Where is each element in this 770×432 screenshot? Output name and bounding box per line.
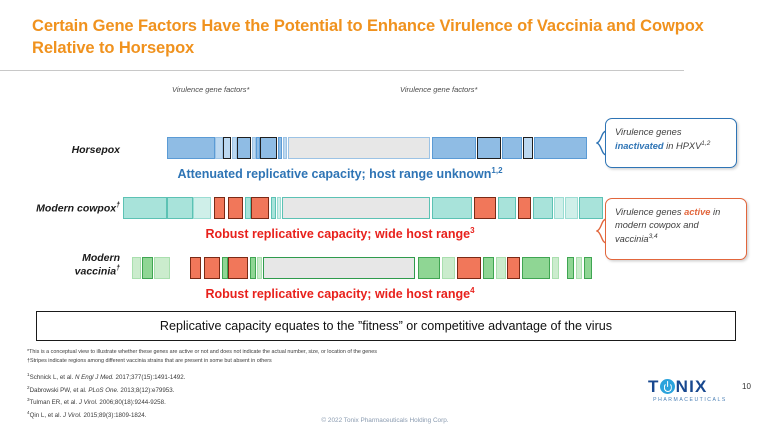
statement-text: Replicative capacity equates to the ”fit…	[160, 319, 612, 333]
reference-authors: Dabrowski PW, et al.	[30, 387, 89, 394]
cowpox-gene-segment	[474, 197, 496, 219]
reference-item: 3Tulman ER, et al. J Virol. 2006;80(18):…	[27, 396, 497, 409]
horsepox-gene-segment	[215, 137, 223, 159]
horsepox-gene-segment	[167, 137, 215, 159]
cowpox-gene-segment	[271, 197, 276, 219]
horsepox-gene-segment	[288, 137, 430, 159]
reference-authors: Schnick L, et al.	[30, 374, 75, 381]
horsepox-gene-segment	[278, 137, 282, 159]
cowpox-gene-segment	[193, 197, 211, 219]
callout-virulence-inactivated: Virulence genes inactivated in HPXV1,2	[605, 118, 737, 168]
vaccinia-gene-segment	[142, 257, 153, 279]
vaccinia-gene-segment	[483, 257, 494, 279]
tonix-wordmark: TNIX	[648, 378, 734, 395]
cowpox-gene-segment	[167, 197, 193, 219]
cowpox-gene-segment	[282, 197, 430, 219]
tonix-wordmark-post: NIX	[676, 378, 708, 395]
tonix-tagline: PHARMACEUTICALS	[648, 397, 732, 403]
row-label-vaccinia-line1: Modern	[10, 252, 120, 265]
reference-journal: N Engl J Med.	[75, 374, 114, 381]
row-label-cowpox-dagger: †	[116, 202, 120, 209]
callout-blue-highlight: inactivated	[615, 141, 664, 151]
statement-box: Replicative capacity equates to the ”fit…	[36, 311, 736, 341]
row-label-vaccinia-line2: vaccinia†	[10, 265, 120, 278]
vaccinia-gene-segment	[522, 257, 550, 279]
genome-track-horsepox	[167, 137, 587, 159]
caption-horsepox-text: Attenuated replicative capacity; host ra…	[177, 167, 491, 181]
reference-journal: PLoS One.	[88, 387, 118, 394]
vaccinia-gene-segment	[584, 257, 592, 279]
cowpox-gene-segment	[565, 197, 578, 219]
vaccinia-gene-segment	[507, 257, 520, 279]
callout-blue-sup: 1,2	[701, 140, 710, 147]
genome-track-vaccinia	[190, 257, 610, 279]
vaccinia-gene-segment	[457, 257, 481, 279]
vaccinia-gene-segment	[190, 257, 201, 279]
vaccinia-gene-segment	[418, 257, 440, 279]
caption-cowpox-sup: 3	[470, 226, 474, 235]
tonix-logo: TNIX PHARMACEUTICALS	[648, 378, 734, 412]
caption-horsepox-sup: 1,2	[491, 166, 502, 175]
vaccinia-gene-segment	[204, 257, 220, 279]
cowpox-gene-segment	[251, 197, 269, 219]
cowpox-gene-segment	[554, 197, 564, 219]
vaccinia-gene-segment	[263, 257, 415, 279]
caption-cowpox: Robust replicative capacity; wide host r…	[150, 226, 530, 241]
horsepox-gene-segment	[223, 137, 231, 159]
callout-blue-text-before: Virulence genes	[615, 127, 682, 137]
page-number: 10	[742, 382, 751, 391]
cowpox-gene-segment	[123, 197, 167, 219]
reference-citation: 2017;377(15):1491-1492.	[114, 374, 186, 381]
vaccinia-gene-segment	[496, 257, 506, 279]
genome-track-cowpox	[167, 197, 587, 219]
vaccinia-gene-segment	[576, 257, 582, 279]
caption-horsepox: Attenuated replicative capacity; host ra…	[150, 166, 530, 181]
horsepox-gene-segment	[477, 137, 501, 159]
virulence-gene-factors-right-label: Virulence gene factors*	[400, 85, 477, 94]
footnotes-block: *This is a conceptual view to illustrate…	[27, 348, 497, 366]
reference-item: 2Dabrowski PW, et al. PLoS One. 2013;8(1…	[27, 384, 497, 397]
caption-cowpox-text: Robust replicative capacity; wide host r…	[205, 227, 470, 241]
vaccinia-gene-segment	[250, 257, 256, 279]
callout-orange-sup: 3,4	[649, 233, 658, 240]
horsepox-gene-segment	[534, 137, 587, 159]
cowpox-gene-segment	[498, 197, 516, 219]
page-title: Certain Gene Factors Have the Potential …	[32, 16, 722, 60]
caption-vaccinia: Robust replicative capacity; wide host r…	[150, 286, 530, 301]
row-label-cowpox: Modern cowpox†	[10, 202, 120, 215]
title-divider	[0, 70, 684, 71]
row-label-horsepox: Horsepox	[20, 144, 120, 157]
vaccinia-gene-segment	[442, 257, 455, 279]
footnote-asterisk: *This is a conceptual view to illustrate…	[27, 348, 497, 357]
references-list: 1Schnick L, et al. N Engl J Med. 2017;37…	[27, 371, 497, 422]
row-label-cowpox-text: Modern cowpox	[36, 203, 116, 215]
row-label-vaccinia-dagger: †	[116, 265, 120, 272]
vaccinia-gene-segment	[228, 257, 248, 279]
genome-diagram: Virulence gene factors* Virulence gene f…	[0, 86, 770, 311]
callout-virulence-active: Virulence genes active in modern cowpox …	[605, 198, 747, 260]
horsepox-gene-segment	[237, 137, 251, 159]
callout-blue-text-after: in HPXV	[664, 141, 702, 151]
callout-orange-highlight: active	[684, 207, 710, 217]
cowpox-gene-segment	[432, 197, 472, 219]
virulence-gene-factors-left-label: Virulence gene factors*	[172, 85, 249, 94]
cowpox-gene-segment	[228, 197, 243, 219]
caption-vaccinia-sup: 4	[470, 286, 474, 295]
power-circle-icon	[660, 379, 675, 394]
horsepox-gene-segment	[432, 137, 476, 159]
reference-item: 1Schnick L, et al. N Engl J Med. 2017;37…	[27, 371, 497, 384]
slide-root: Certain Gene Factors Have the Potential …	[0, 0, 770, 432]
cowpox-gene-segment	[214, 197, 225, 219]
caption-vaccinia-text: Robust replicative capacity; wide host r…	[205, 287, 470, 301]
reference-journal: J Virol.	[79, 400, 98, 407]
footnote-dagger: †Stripes indicate regions among differen…	[27, 357, 497, 366]
cowpox-gene-segment	[518, 197, 531, 219]
horsepox-gene-segment	[502, 137, 522, 159]
vaccinia-gene-segment	[132, 257, 141, 279]
tonix-wordmark-pre: T	[648, 378, 660, 395]
row-label-horsepox-text: Horsepox	[72, 144, 120, 156]
horsepox-gene-segment	[260, 137, 277, 159]
reference-citation: 2013;8(12):e79953.	[119, 387, 175, 394]
vaccinia-gene-segment	[154, 257, 170, 279]
horsepox-gene-segment	[523, 137, 533, 159]
callout-orange-text-before: Virulence genes	[615, 207, 684, 217]
row-label-vaccinia: Modern vaccinia†	[10, 252, 120, 278]
vaccinia-gene-segment	[257, 257, 262, 279]
cowpox-gene-segment	[277, 197, 281, 219]
cowpox-gene-segment	[579, 197, 603, 219]
vaccinia-gene-segment	[567, 257, 574, 279]
vaccinia-gene-segment	[552, 257, 559, 279]
copyright-text: © 2022 Tonix Pharmaceuticals Holding Cor…	[0, 417, 770, 424]
horsepox-gene-segment	[283, 137, 287, 159]
cowpox-gene-segment	[533, 197, 553, 219]
reference-citation: 2006;80(18):9244-9258.	[98, 400, 166, 407]
reference-authors: Tulman ER, et al.	[30, 400, 79, 407]
